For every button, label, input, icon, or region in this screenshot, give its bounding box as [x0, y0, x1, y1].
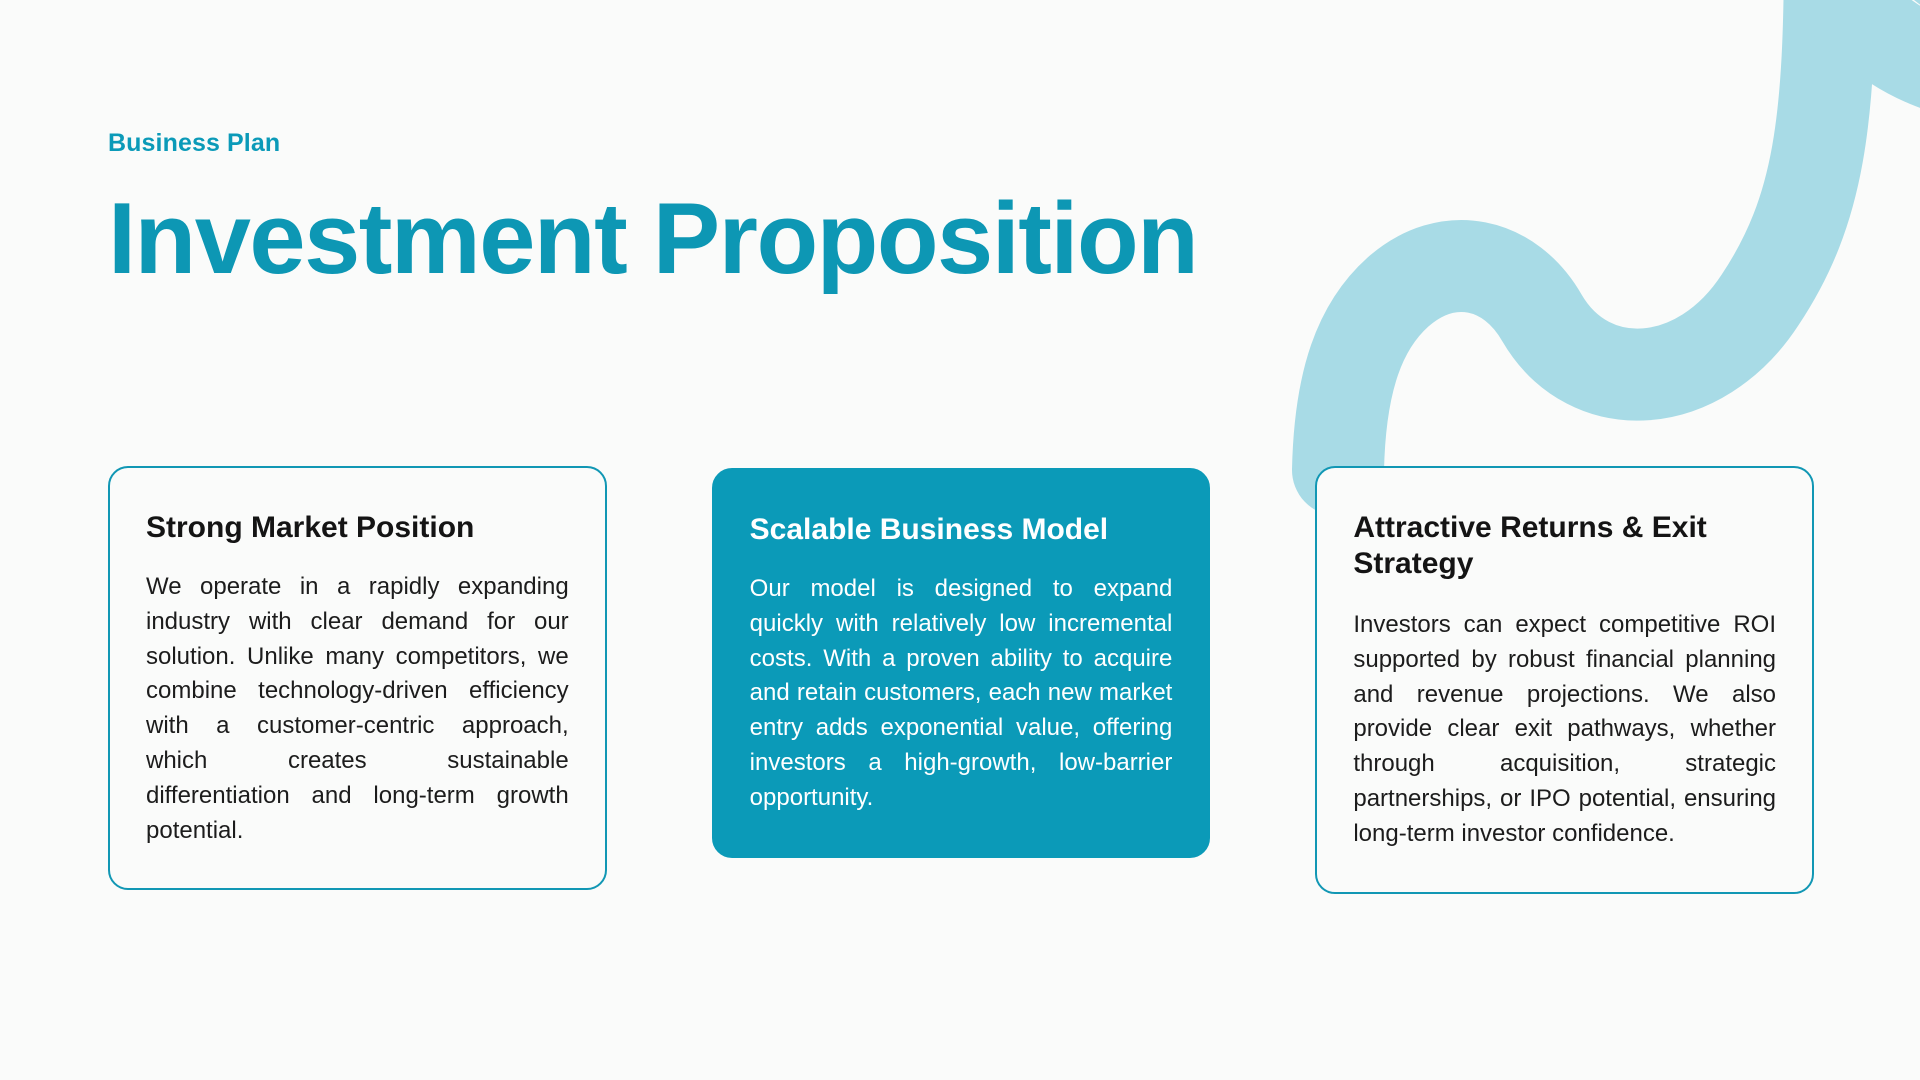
- card-scalable-business-model[interactable]: Scalable Business Model Our model is des…: [712, 468, 1211, 858]
- card-body: Our model is designed to expand quickly …: [750, 572, 1173, 816]
- card-body: We operate in a rapidly expanding indust…: [146, 570, 569, 848]
- card-title: Scalable Business Model: [750, 512, 1173, 548]
- card-attractive-returns-exit-strategy[interactable]: Attractive Returns & Exit Strategy Inves…: [1315, 466, 1814, 894]
- page-title: Investment Proposition: [108, 186, 1197, 292]
- feature-cards-row: Strong Market Position We operate in a r…: [108, 466, 1814, 894]
- eyebrow-label: Business Plan: [108, 128, 1197, 158]
- card-strong-market-position[interactable]: Strong Market Position We operate in a r…: [108, 466, 607, 890]
- card-title: Attractive Returns & Exit Strategy: [1353, 510, 1776, 582]
- card-title: Strong Market Position: [146, 510, 569, 546]
- card-body: Investors can expect competitive ROI sup…: [1353, 608, 1776, 852]
- slide-header: Business Plan Investment Proposition: [108, 128, 1197, 292]
- slide-canvas: Business Plan Investment Proposition Str…: [0, 0, 1920, 1080]
